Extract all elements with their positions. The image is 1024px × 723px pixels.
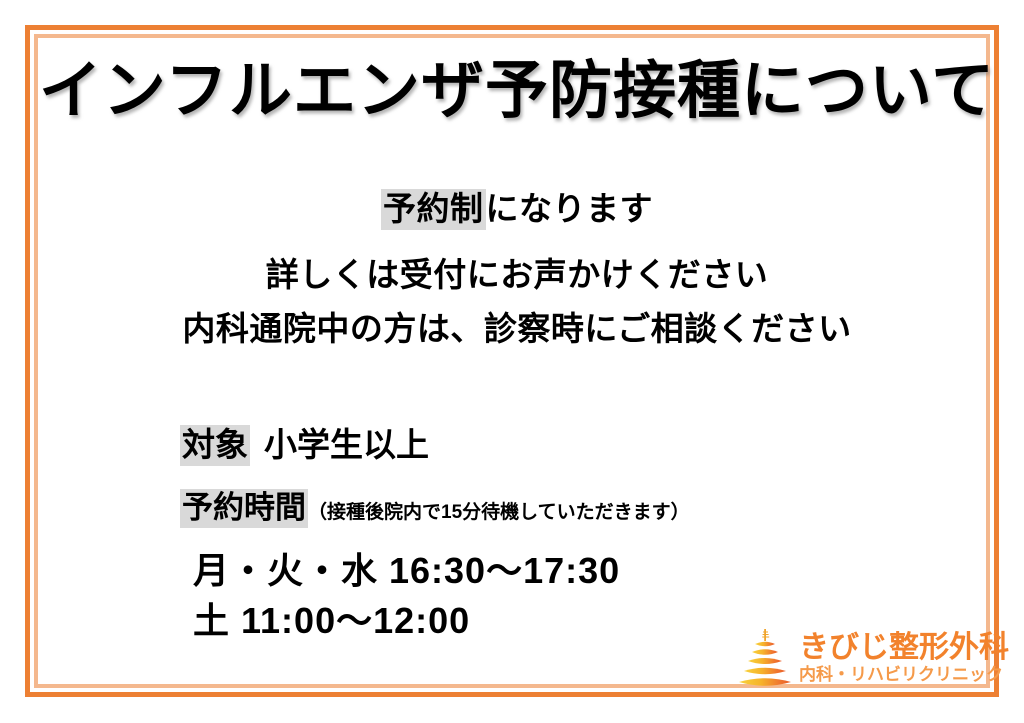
clinic-logo-text: きびじ整形外科 内科・リハビリクリニック	[799, 632, 995, 684]
notice-line-2: 内科通院中の方は、診察時にご相談ください	[30, 302, 1004, 350]
poster-outer-border: インフルエンザ予防接種について 予約制になります 詳しくは受付にお声かけください…	[25, 25, 999, 697]
detail-row-hours-label: 予約時間（接種後院内で15分待機していただきます）	[180, 482, 690, 527]
schedule-line-saturday: 土 11:00〜12:00	[193, 592, 470, 644]
schedule-line-weekday: 月・火・水 16:30〜17:30	[193, 542, 620, 594]
clinic-subname: 内科・リハビリクリニック	[799, 666, 995, 685]
target-value: 小学生以上	[264, 426, 429, 463]
pagoda-icon	[733, 628, 797, 694]
page-title: インフルエンザ予防接種について	[30, 58, 1004, 124]
poster-canvas: インフルエンザ予防接種について 予約制になります 詳しくは受付にお声かけください…	[0, 0, 1024, 723]
subtitle-rest: になります	[486, 190, 654, 227]
clinic-name: きびじ整形外科	[799, 632, 995, 664]
target-label: 対象	[180, 425, 250, 466]
detail-row-target: 対象小学生以上	[180, 418, 429, 466]
clinic-logo: きびじ整形外科 内科・リハビリクリニック	[733, 626, 993, 698]
hours-label: 予約時間	[180, 489, 308, 528]
notice-line-1: 詳しくは受付にお声かけください	[30, 248, 1004, 296]
subtitle-highlight: 予約制	[381, 189, 486, 230]
hours-note: （接種後院内で15分待機していただきます）	[308, 502, 690, 523]
poster-content: インフルエンザ予防接種について 予約制になります 詳しくは受付にお声かけください…	[30, 30, 1004, 702]
subtitle-reservation-required: 予約制になります	[30, 182, 1004, 230]
